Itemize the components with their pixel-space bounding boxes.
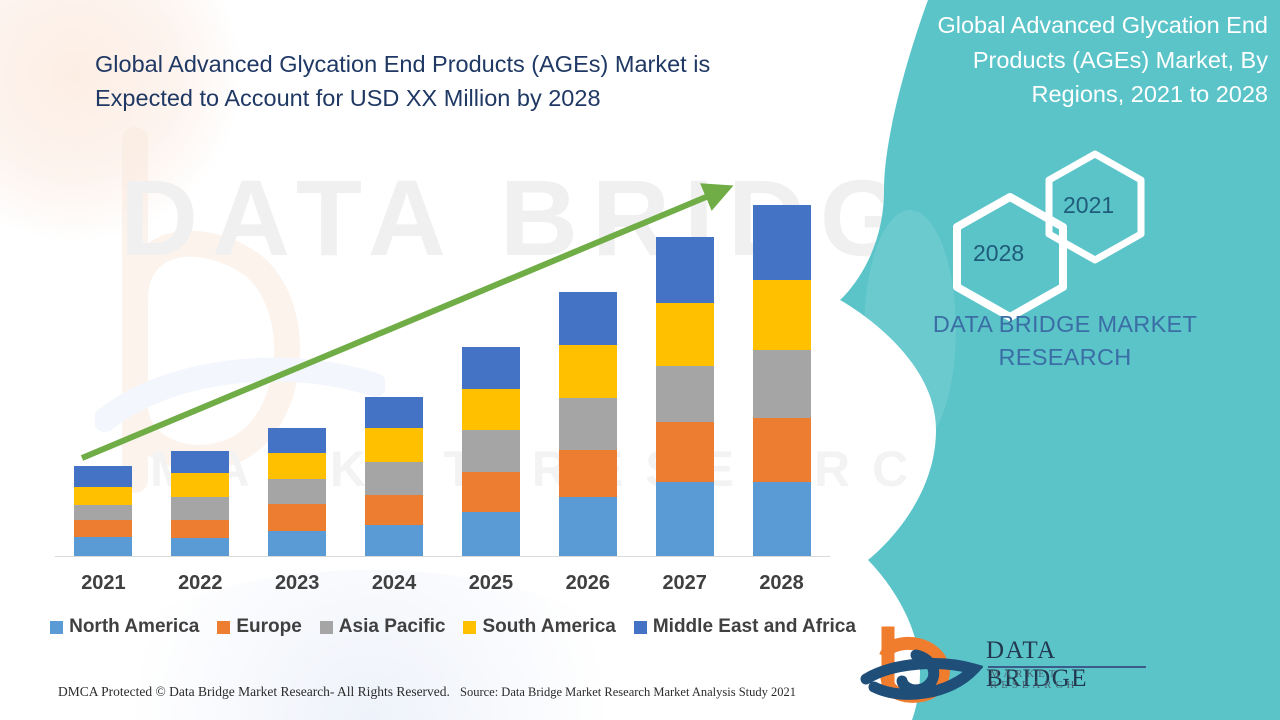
bar-segment (753, 205, 811, 280)
right-panel: Global Advanced Glycation End Products (… (840, 0, 1280, 720)
bar-segment (365, 495, 423, 525)
legend-item-north-america[interactable]: North America (50, 616, 199, 638)
bar-segment (365, 428, 423, 462)
legend-item-asia-pacific[interactable]: Asia Pacific (320, 616, 446, 638)
legend-swatch-icon (634, 621, 647, 634)
bar-column-2023 (249, 120, 346, 556)
legend-item-middle-east-and-africa[interactable]: Middle East and Africa (634, 616, 856, 638)
bar-segment (559, 345, 617, 399)
bar-segment (268, 504, 326, 531)
bar-segment (753, 482, 811, 556)
bar-segment (365, 397, 423, 429)
legend-swatch-icon (50, 621, 63, 634)
bar-segment (74, 520, 132, 537)
bar-segment (462, 347, 520, 389)
bar-segment (74, 537, 132, 556)
legend-label: South America (482, 616, 615, 638)
bar-segment (753, 418, 811, 483)
stacked-bar[interactable] (268, 428, 326, 556)
x-axis-tick-2024: 2024 (346, 572, 443, 595)
x-axis-tick-2027: 2027 (636, 572, 733, 595)
bar-column-2027 (636, 120, 733, 556)
bar-segment (74, 505, 132, 520)
footer-source: Source: Data Bridge Market Research Mark… (460, 685, 796, 700)
x-axis-tick-2025: 2025 (443, 572, 540, 595)
bar-column-2026 (539, 120, 636, 556)
data-bridge-logo: DATA BRIDGE MARKET RESEARCH (858, 625, 1108, 705)
brand-name: DATA BRIDGE MARKET RESEARCH (880, 308, 1250, 374)
bar-segment (268, 453, 326, 479)
x-axis-tick-2022: 2022 (152, 572, 249, 595)
bar-segment (365, 462, 423, 495)
bar-segment (268, 428, 326, 453)
bar-segment (268, 479, 326, 505)
brand-line-1: DATA BRIDGE MARKET (880, 308, 1250, 341)
data-bridge-mark-icon (858, 625, 983, 703)
bar-segment (656, 366, 714, 422)
bar-segment (462, 512, 520, 556)
chart-title: Global Advanced Glycation End Products (… (95, 47, 755, 115)
bar-segment (171, 451, 229, 473)
bar-segment (171, 473, 229, 497)
bar-column-2024 (346, 120, 443, 556)
bar-segment (559, 398, 617, 450)
legend-label: Europe (236, 616, 301, 638)
legend-item-europe[interactable]: Europe (217, 616, 301, 638)
bar-segment (753, 350, 811, 418)
bar-segment (171, 520, 229, 538)
bar-segment (462, 430, 520, 472)
bar-segment (171, 538, 229, 556)
bar-column-2028 (733, 120, 830, 556)
brand-line-2: RESEARCH (880, 341, 1250, 374)
bar-column-2021 (55, 120, 152, 556)
x-axis-tick-2021: 2021 (55, 572, 152, 595)
stacked-bar[interactable] (365, 397, 423, 556)
logo-divider (988, 666, 1146, 668)
legend-swatch-icon (463, 621, 476, 634)
logo-tagline-text: MARKET RESEARCH (990, 669, 1108, 691)
chart-legend: North AmericaEuropeAsia PacificSouth Ame… (58, 616, 848, 638)
bar-segment (74, 487, 132, 505)
footer-copyright: DMCA Protected © Data Bridge Market Rese… (58, 684, 450, 700)
bar-segment (656, 482, 714, 556)
bar-segment (656, 422, 714, 483)
x-axis-line (55, 556, 830, 557)
x-axis-labels: 20212022202320242025202620272028 (55, 572, 830, 595)
bar-segment (74, 466, 132, 487)
legend-label: Asia Pacific (339, 616, 446, 638)
bar-segment (656, 303, 714, 366)
legend-item-south-america[interactable]: South America (463, 616, 615, 638)
bar-segment (559, 497, 617, 556)
infographic-page: DATA BRIDGE MARKET RESEARCH Global Advan… (0, 0, 1280, 720)
legend-swatch-icon (320, 621, 333, 634)
stacked-bar[interactable] (462, 347, 520, 556)
bar-column-2025 (443, 120, 540, 556)
hexagon-badges: 2021 2028 (930, 148, 1240, 278)
x-axis-tick-2026: 2026 (539, 572, 636, 595)
bar-column-2022 (152, 120, 249, 556)
bar-segment (462, 389, 520, 431)
stacked-bar[interactable] (656, 237, 714, 556)
hexagon-2028-label: 2028 (973, 240, 1024, 267)
bar-segment (462, 472, 520, 512)
bar-segment (559, 292, 617, 345)
stacked-bar[interactable] (753, 205, 811, 556)
bar-segment (753, 280, 811, 350)
x-axis-tick-2023: 2023 (249, 572, 346, 595)
legend-swatch-icon (217, 621, 230, 634)
panel-title: Global Advanced Glycation End Products (… (896, 8, 1268, 112)
stacked-bar[interactable] (171, 451, 229, 556)
bar-segment (656, 237, 714, 303)
legend-label: Middle East and Africa (653, 616, 856, 638)
bar-segment (559, 450, 617, 497)
x-axis-tick-2028: 2028 (733, 572, 830, 595)
bar-segment (365, 525, 423, 556)
bar-segment (171, 497, 229, 520)
stacked-bar[interactable] (74, 466, 132, 556)
stacked-bar[interactable] (559, 292, 617, 556)
stacked-bars-group (55, 120, 830, 556)
bar-segment (268, 531, 326, 556)
chart-plot-area (55, 120, 830, 557)
legend-label: North America (69, 616, 199, 638)
